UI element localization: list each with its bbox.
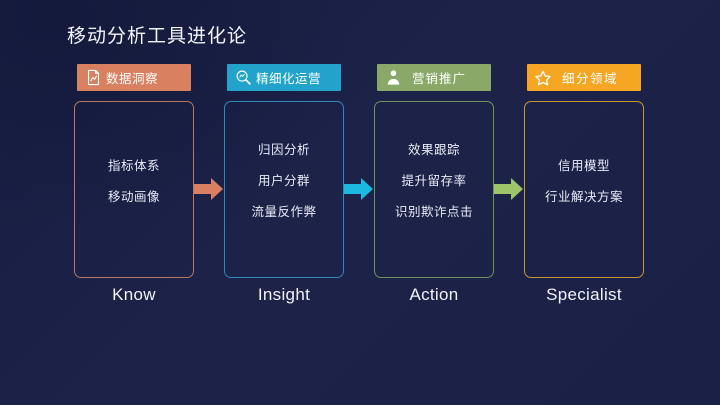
card-item: 移动画像 — [108, 186, 160, 205]
arrow-action-to-specialist — [494, 177, 524, 201]
slide-canvas: 移动分析工具进化论 数据洞察 指标体系 移动画像 Know — [0, 0, 720, 405]
stage-badge-label: 精细化运营 — [256, 68, 321, 87]
card-item: 效果跟踪 — [408, 139, 460, 158]
card-item-list: 信用模型 行业解决方案 — [525, 155, 643, 205]
stage-badge-vertical-domain[interactable]: 细分领域 — [527, 64, 641, 91]
card-item: 归因分析 — [258, 139, 310, 158]
stage-column-insight: 精细化运营 归因分析 用户分群 流量反作弊 Insight — [224, 64, 344, 305]
stage-label-know: Know — [74, 285, 194, 305]
stage-badge-label: 营销推广 — [412, 68, 466, 87]
stage-label-insight: Insight — [224, 285, 344, 305]
arrow-insight-to-action — [344, 177, 374, 201]
card-item: 用户分群 — [258, 170, 310, 189]
card-item-list: 指标体系 移动画像 — [75, 155, 193, 205]
card-item: 流量反作弊 — [251, 201, 316, 220]
stage-card-specialist: 信用模型 行业解决方案 — [524, 101, 644, 278]
page-title: 移动分析工具进化论 — [67, 24, 247, 50]
stage-label-specialist: Specialist — [524, 285, 644, 305]
card-item: 指标体系 — [108, 155, 160, 174]
card-item: 行业解决方案 — [545, 186, 623, 205]
star-icon — [534, 69, 552, 87]
stage-column-action: 营销推广 效果跟踪 提升留存率 识别欺诈点击 Action — [374, 64, 494, 305]
stage-column-know: 数据洞察 指标体系 移动画像 Know — [74, 64, 194, 305]
stage-badge-label: 数据洞察 — [106, 68, 158, 87]
stage-card-action: 效果跟踪 提升留存率 识别欺诈点击 — [374, 101, 494, 278]
stage-badge-data-insight[interactable]: 数据洞察 — [77, 64, 191, 91]
arrow-know-to-insight — [194, 177, 224, 201]
stage-card-insight: 归因分析 用户分群 流量反作弊 — [224, 101, 344, 278]
stage-column-specialist: 细分领域 信用模型 行业解决方案 Specialist — [524, 64, 644, 305]
stage-card-know: 指标体系 移动画像 — [74, 101, 194, 278]
chart-document-icon — [84, 69, 102, 87]
stage-badge-refined-operation[interactable]: 精细化运营 — [227, 64, 341, 91]
card-item-list: 效果跟踪 提升留存率 识别欺诈点击 — [375, 139, 493, 220]
stage-badge-label: 细分领域 — [562, 68, 618, 87]
card-item-list: 归因分析 用户分群 流量反作弊 — [225, 139, 343, 220]
person-icon — [384, 69, 402, 87]
magnifier-chart-icon — [234, 69, 252, 87]
card-item: 信用模型 — [558, 155, 610, 174]
stage-badge-marketing[interactable]: 营销推广 — [377, 64, 491, 91]
stage-label-action: Action — [374, 285, 494, 305]
card-item: 识别欺诈点击 — [395, 201, 473, 220]
card-item: 提升留存率 — [401, 170, 466, 189]
